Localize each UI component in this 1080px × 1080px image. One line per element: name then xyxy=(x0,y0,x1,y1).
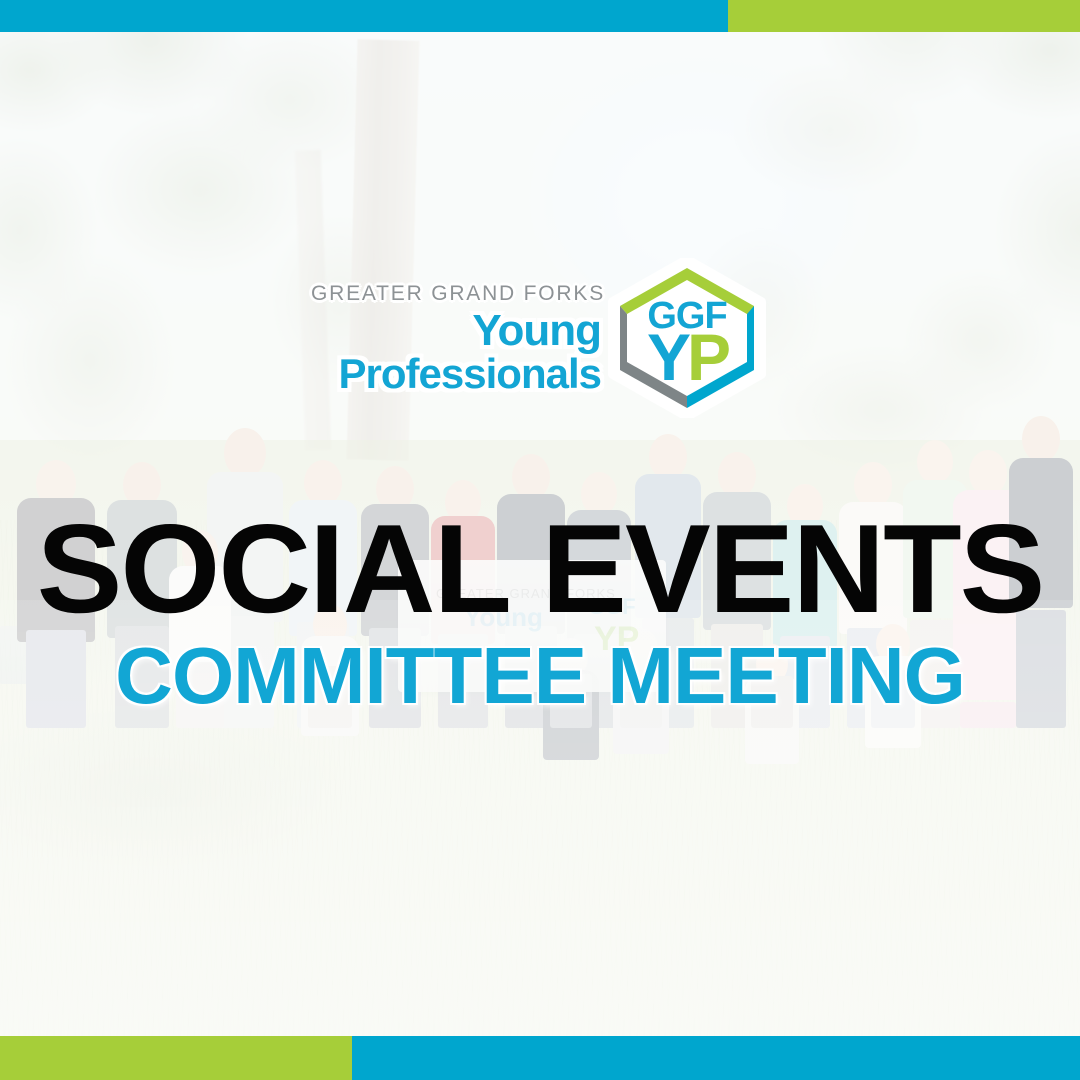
ggfyp-logo-lockup: GREATER GRAND FORKS Young Professionals … xyxy=(311,258,773,418)
svg-text:Y: Y xyxy=(647,320,691,394)
logo-eyebrow: GREATER GRAND FORKS xyxy=(311,282,601,306)
social-media-poster: GREATER GRAND FORKS Young GGF YP GREATER… xyxy=(0,0,1080,1080)
top-bar-green-segment xyxy=(728,0,1080,32)
ggfyp-hex-mark: GGF Y P xyxy=(601,258,773,418)
headline-secondary: COMMITTEE MEETING xyxy=(0,636,1080,716)
svg-text:P: P xyxy=(687,320,731,394)
top-bar-cyan-segment xyxy=(0,0,728,32)
logo-line-young: Young xyxy=(311,310,601,352)
headline-primary: SOCIAL EVENTS xyxy=(0,506,1080,632)
logo-line-professionals: Professionals xyxy=(311,354,601,394)
logo-wordmark: GREATER GRAND FORKS Young Professionals xyxy=(311,282,601,395)
bottom-bar-green-segment xyxy=(0,1036,352,1080)
bottom-brand-bar xyxy=(0,1036,1080,1080)
top-brand-bar xyxy=(0,0,1080,32)
bottom-bar-cyan-segment xyxy=(352,1036,1080,1080)
